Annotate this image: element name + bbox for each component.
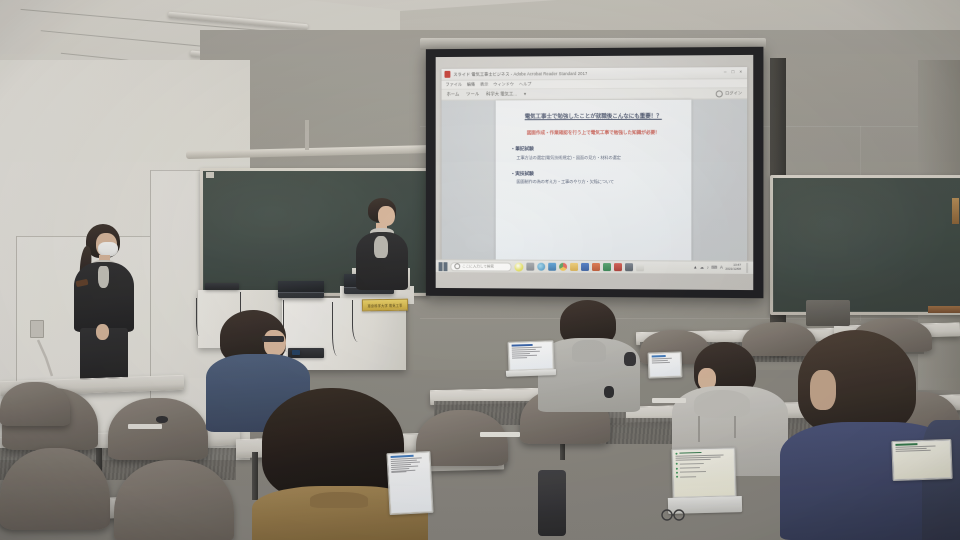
chair[interactable] xyxy=(0,382,70,426)
system-tray[interactable]: ▲ ☁ ♪ ⌨ A 13:47 2021/12/08 xyxy=(693,263,750,273)
bullet-heading: ・実技試験 xyxy=(511,170,681,177)
site-logo-icon xyxy=(676,452,678,454)
close-icon[interactable]: × xyxy=(739,70,742,75)
student-laptop[interactable] xyxy=(891,439,952,481)
site-title-strip xyxy=(679,452,701,454)
powerpoint-icon[interactable] xyxy=(592,263,600,271)
student-far-right xyxy=(922,420,960,540)
hoodie-drawstring xyxy=(698,416,700,442)
student-laptop[interactable] xyxy=(648,351,683,378)
video-cable xyxy=(332,302,345,356)
menu-edit[interactable]: 編集 xyxy=(467,82,475,88)
maximize-icon[interactable]: □ xyxy=(732,70,735,75)
task-view-icon[interactable] xyxy=(526,263,534,271)
minimize-icon[interactable]: – xyxy=(724,70,727,75)
presenter-shirt-front xyxy=(374,236,388,258)
student-torso xyxy=(922,420,960,540)
sign-in-label[interactable]: ログイン xyxy=(725,90,742,96)
show-desktop-strip[interactable] xyxy=(746,263,749,273)
menu-view[interactable]: 表示 xyxy=(480,82,488,88)
chalkboard-surface xyxy=(773,178,960,312)
excel-icon[interactable] xyxy=(603,263,611,271)
student-ear-side xyxy=(810,370,836,410)
student-collar xyxy=(572,340,606,362)
edge-icon[interactable] xyxy=(537,263,545,271)
media-player-icon[interactable] xyxy=(625,263,633,271)
chalkboard-magnet xyxy=(206,172,214,178)
cortana-circle-icon[interactable] xyxy=(514,262,523,271)
bullet-detail: 図面制作の為の考え方・工事のやり方・欠陥について xyxy=(511,179,681,185)
laptop-display xyxy=(674,449,735,496)
wall-bracket xyxy=(36,338,72,378)
window-title: スライド 電気工事士ビジネス - Adobe Acrobat Reader St… xyxy=(453,71,587,78)
projection-screen: スライド 電気工事士ビジネス - Adobe Acrobat Reader St… xyxy=(426,47,764,298)
water-bottle[interactable] xyxy=(624,352,636,366)
podium-sign: 東京科学大学 電気工事 xyxy=(362,299,408,312)
slide-title: 電気工事士で勉強したことが就職後こんなにも重要！？ xyxy=(507,114,681,122)
podium-sign-text: 東京科学大学 電気工事 xyxy=(367,302,402,308)
chair[interactable] xyxy=(0,448,110,530)
control-monitor[interactable] xyxy=(278,281,324,298)
standing-assistant xyxy=(72,224,138,389)
jacket-collar xyxy=(310,492,368,508)
bullet-heading: ・筆記試験 xyxy=(511,145,681,152)
roller-support-arm xyxy=(305,120,309,150)
bag-strap xyxy=(604,386,614,398)
slide-page: 電気工事士で勉強したことが就職後こんなにも重要！？ 図面作成・作業確認を行う上で… xyxy=(496,100,692,262)
search-input[interactable]: ここに入力して検索 xyxy=(450,262,511,271)
cloud-icon[interactable]: ☁ xyxy=(700,265,704,269)
search-placeholder: ここに入力して検索 xyxy=(462,264,494,269)
student-face xyxy=(264,330,286,356)
hoodie-hood xyxy=(694,390,750,418)
student-laptop[interactable] xyxy=(507,340,554,372)
ime-keyboard-icon[interactable]: ⌨ xyxy=(711,266,717,270)
windows-start-icon[interactable] xyxy=(439,262,448,271)
slide-subtitle: 図面作成・作業確認を行う上で電気工事で勉強した知識が必要！ xyxy=(507,130,681,137)
computer-mouse[interactable] xyxy=(156,416,168,423)
acrobat-window[interactable]: スライド 電気工事士ビジネス - Adobe Acrobat Reader St… xyxy=(442,67,748,269)
power-cable xyxy=(196,298,203,336)
laptop-display xyxy=(389,453,432,513)
wall-outlet[interactable] xyxy=(30,320,44,338)
lecture-hall-photo: スライド 電気工事士ビジネス - Adobe Acrobat Reader St… xyxy=(0,0,960,540)
slide-bullet-group: ・実技試験 図面制作の為の考え方・工事のやり方・欠陥について xyxy=(507,170,681,186)
clock[interactable]: 13:47 2021/12/08 xyxy=(725,264,741,271)
user-circle-icon xyxy=(716,90,723,97)
laptop-display xyxy=(510,342,552,369)
tab-document[interactable]: 科学大 電気工... xyxy=(486,91,517,97)
eyeglasses xyxy=(262,336,284,342)
paper-sheet[interactable] xyxy=(480,432,520,437)
mail-icon[interactable] xyxy=(548,263,556,271)
student-laptop[interactable] xyxy=(386,451,433,515)
chalk-tray xyxy=(928,306,960,313)
laptop-display xyxy=(650,354,680,377)
slide-bullet-group: ・筆記試験 工事方法の選定(電気技術規定)・図面の見方・材料の選定 xyxy=(507,145,681,161)
tray-chevron-up-icon[interactable]: ▲ xyxy=(693,265,697,269)
word-icon[interactable] xyxy=(581,263,589,271)
tab-overflow-chevron-icon[interactable]: ▾ xyxy=(524,91,526,97)
notepad-icon[interactable] xyxy=(636,263,644,271)
menu-help[interactable]: ヘルプ xyxy=(519,81,531,87)
assistant-hands xyxy=(96,324,109,340)
bullet-detail: 工事方法の選定(電気技術規定)・図面の見方・材料の選定 xyxy=(511,155,681,161)
projection-surface: スライド 電気工事士ビジネス - Adobe Acrobat Reader St… xyxy=(436,55,754,290)
ime-mode-icon[interactable]: A xyxy=(720,266,723,270)
tab-home[interactable]: ホーム xyxy=(446,92,459,98)
menu-window[interactable]: ウィンドウ xyxy=(493,81,514,87)
student-hair xyxy=(262,388,404,500)
paper-sheet[interactable] xyxy=(128,424,162,429)
volume-icon[interactable]: ♪ xyxy=(707,266,709,270)
menu-file[interactable]: ファイル xyxy=(445,82,461,88)
folder-explorer-icon[interactable] xyxy=(570,263,578,271)
search-icon xyxy=(454,263,460,269)
hoodie-drawstring xyxy=(734,416,736,438)
chair[interactable] xyxy=(108,398,208,460)
pdf-document-icon xyxy=(445,71,451,78)
laptop-display xyxy=(894,441,951,479)
eyeglasses-on-desk[interactable] xyxy=(660,508,686,520)
acrobat-icon[interactable] xyxy=(614,263,622,271)
wall-shelf-box xyxy=(806,300,850,326)
tab-tools[interactable]: ツール xyxy=(466,92,479,98)
chalk-holder-clip xyxy=(952,198,959,224)
backpack[interactable] xyxy=(538,470,566,536)
clock-date: 2021/12/08 xyxy=(725,267,741,271)
paper-sheet[interactable] xyxy=(652,398,686,403)
windows-taskbar[interactable]: ここに入力して検索 ▲ ☁ ♪ ⌨ A xyxy=(436,259,754,274)
document-viewport[interactable]: 電気工事士で勉強したことが就職後こんなにも重要！？ 図面作成・作業確認を行う上で… xyxy=(442,99,748,261)
chrome-icon[interactable] xyxy=(559,263,567,271)
side-chalkboard xyxy=(770,175,960,315)
presenter-speaker xyxy=(352,198,414,290)
window-controls[interactable]: – □ × xyxy=(724,70,744,75)
projector-controller[interactable] xyxy=(205,283,239,290)
monitor-screen xyxy=(278,281,324,293)
student-laptop[interactable] xyxy=(671,447,736,499)
assistant-shirt-front xyxy=(98,266,109,288)
sign-in-area[interactable]: ログイン xyxy=(716,90,742,97)
